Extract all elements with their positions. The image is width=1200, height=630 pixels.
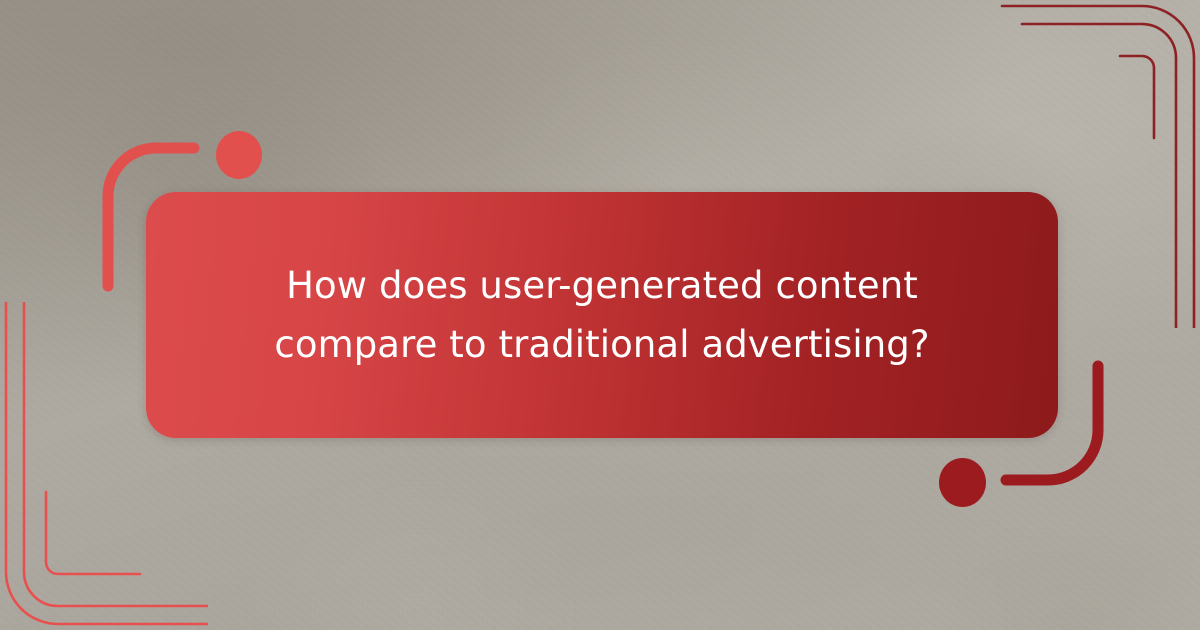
question-title: How does user-generated content compare …	[146, 256, 1058, 374]
dot-bottom-right	[939, 458, 986, 507]
dot-top-left	[216, 131, 262, 179]
poster-canvas: How does user-generated content compare …	[0, 0, 1200, 630]
question-card: How does user-generated content compare …	[146, 192, 1058, 438]
